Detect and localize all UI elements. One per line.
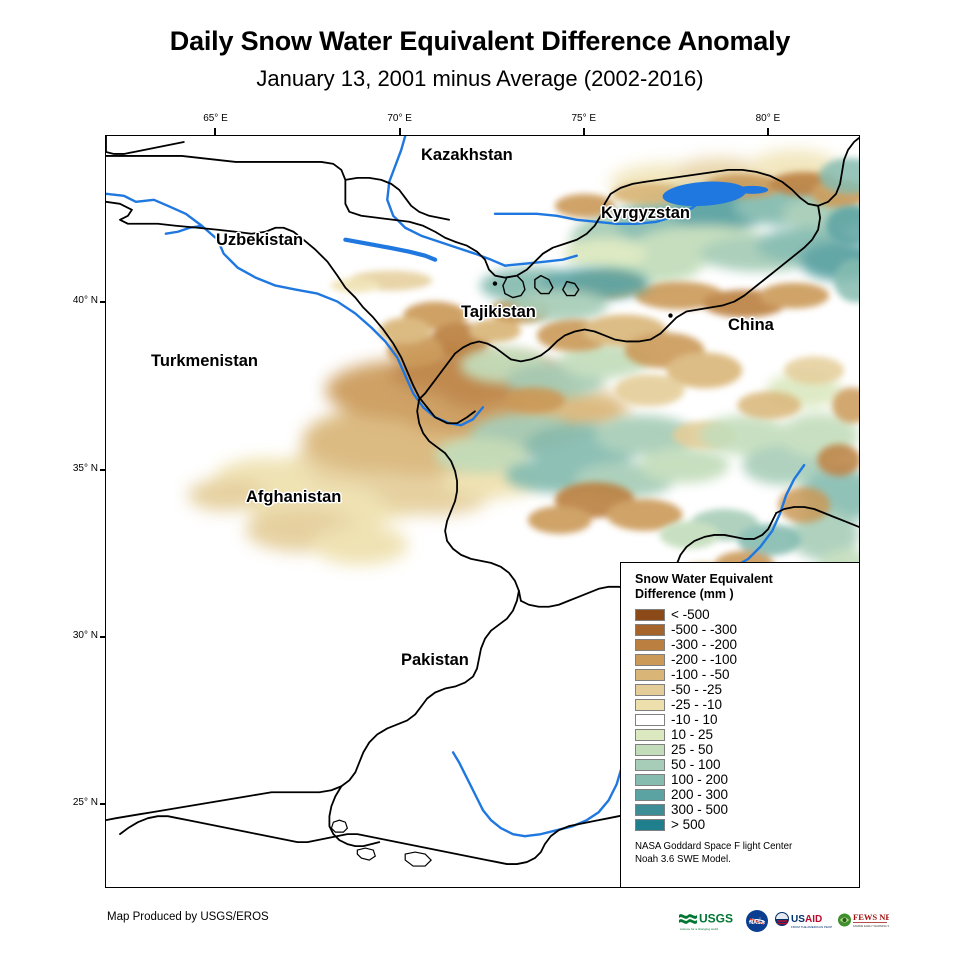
legend-swatch [635,624,665,636]
legend-label: -10 - 10 [671,713,718,726]
lon-tick-label: 65° E [185,113,245,124]
country-label-pakistan: Pakistan [401,651,469,670]
legend-label: 25 - 50 [671,743,713,756]
legend-swatch [635,729,665,741]
legend-row[interactable]: > 500 [635,817,859,832]
legend-swatch [635,819,665,831]
lat-tick-label: 30° N [38,630,98,641]
legend-row[interactable]: -100 - -50 [635,667,859,682]
legend-class-list: < -500-500 - -300-300 - -200-200 - -100-… [635,607,859,832]
page-subtitle: January 13, 2001 minus Average (2002-201… [0,66,960,92]
legend-swatch [635,699,665,711]
lon-tick-label: 70° E [370,113,430,124]
svg-text:FEWS NET: FEWS NET [853,912,889,922]
legend-swatch [635,639,665,651]
legend-swatch [635,759,665,771]
legend-swatch [635,609,665,621]
map-legend[interactable]: Snow Water Equivalent Difference (mm ) <… [620,562,860,888]
legend-swatch [635,714,665,726]
legend-title-line2: Difference (mm ) [635,587,859,602]
page-title: Daily Snow Water Equivalent Difference A… [0,26,960,57]
legend-title-line1: Snow Water Equivalent [635,572,859,587]
svg-text:NASA: NASA [749,920,765,926]
lon-tick-mark [583,128,585,135]
usaid-logo: US AID FROM THE AMERICAN PEOPLE [774,909,832,933]
lon-tick-mark [767,128,769,135]
legend-row[interactable]: -25 - -10 [635,697,859,712]
legend-label: 100 - 200 [671,773,728,786]
country-label-uzbekistan: Uzbekistan [216,231,303,250]
legend-label: -50 - -25 [671,683,722,696]
svg-text:US: US [791,914,805,925]
legend-label: 200 - 300 [671,788,728,801]
legend-title: Snow Water Equivalent Difference (mm ) [635,572,859,602]
lon-tick-label: 80° E [738,113,798,124]
svg-text:USGS: USGS [699,912,733,926]
country-label-china: China [728,316,774,335]
lon-tick-mark [214,128,216,135]
lat-tick-label: 40° N [38,295,98,306]
legend-row[interactable]: -50 - -25 [635,682,859,697]
map-page: Daily Snow Water Equivalent Difference A… [0,0,960,960]
country-label-kyrgyzstan: Kyrgyzstan [601,204,690,223]
legend-label: < -500 [671,608,710,621]
legend-row[interactable]: 200 - 300 [635,787,859,802]
country-label-tajikistan: Tajikistan [461,303,536,322]
usgs-logo: USGS science for a changing world [678,909,740,933]
legend-row[interactable]: 10 - 25 [635,727,859,742]
country-label-afghanistan: Afghanistan [246,488,341,507]
svg-text:AID: AID [805,914,822,925]
lon-tick-mark [399,128,401,135]
legend-label: 50 - 100 [671,758,721,771]
producer-credit: Map Produced by USGS/EROS [107,911,269,923]
legend-label: > 500 [671,818,705,831]
nasa-logo: NASA [745,909,769,933]
legend-row[interactable]: 50 - 100 [635,757,859,772]
fewsnet-logo: FEWS NET FAMINE EARLY WARNING SYSTEMS NE… [837,909,889,933]
legend-row[interactable]: -300 - -200 [635,637,859,652]
svg-text:science for a changing world: science for a changing world [680,927,718,931]
legend-row[interactable]: -10 - 10 [635,712,859,727]
legend-note-line2: Noah 3.6 SWE Model. [635,854,859,867]
svg-text:FAMINE EARLY WARNING SYSTEMS N: FAMINE EARLY WARNING SYSTEMS NETWORK [853,924,889,928]
legend-swatch [635,669,665,681]
country-label-kazakhstan: Kazakhstan [421,146,513,165]
lat-tick-label: 25° N [38,797,98,808]
legend-label: -500 - -300 [671,623,737,636]
lon-tick-label: 75° E [554,113,614,124]
legend-row[interactable]: 100 - 200 [635,772,859,787]
legend-row[interactable]: 25 - 50 [635,742,859,757]
legend-label: -25 - -10 [671,698,722,711]
legend-label: 10 - 25 [671,728,713,741]
legend-note-line1: NASA Goddard Space F light Center [635,841,859,854]
legend-label: -300 - -200 [671,638,737,651]
legend-label: 300 - 500 [671,803,728,816]
legend-swatch [635,744,665,756]
legend-row[interactable]: 300 - 500 [635,802,859,817]
legend-swatch [635,774,665,786]
legend-note: NASA Goddard Space F light Center Noah 3… [635,841,859,866]
legend-label: -100 - -50 [671,668,730,681]
legend-label: -200 - -100 [671,653,737,666]
legend-row[interactable]: -200 - -100 [635,652,859,667]
legend-swatch [635,684,665,696]
svg-text:FROM THE AMERICAN PEOPLE: FROM THE AMERICAN PEOPLE [791,925,832,929]
lat-tick-label: 35° N [38,463,98,474]
agency-logo-bar: USGS science for a changing world NASA U… [678,906,889,936]
country-label-turkmenistan: Turkmenistan [151,352,258,371]
legend-row[interactable]: -500 - -300 [635,622,859,637]
legend-swatch [635,654,665,666]
legend-swatch [635,789,665,801]
legend-row[interactable]: < -500 [635,607,859,622]
legend-swatch [635,804,665,816]
